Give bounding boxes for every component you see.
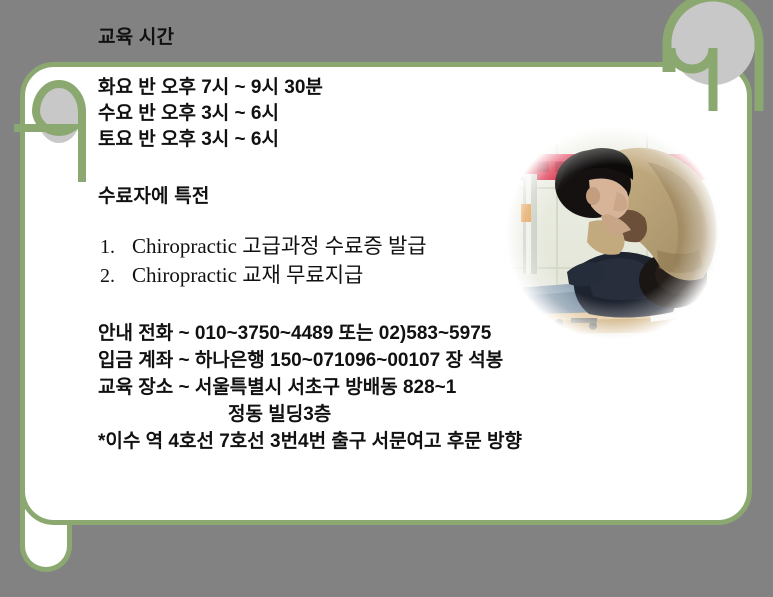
schedule-line: 수요 반 오후 3시 ~ 6시 bbox=[98, 101, 708, 127]
list-item-number: 1. bbox=[100, 233, 132, 261]
schedule-line: 화요 반 오후 7시 ~ 9시 30분 bbox=[98, 75, 708, 101]
contact-transit-directions: *이수 역 4호선 7호선 3번4번 출구 서문여고 후문 방향 bbox=[98, 428, 708, 455]
contact-block: 안내 전화 ~ 010~3750~4489 또는 02)583~5975 입금 … bbox=[98, 320, 708, 455]
list-item: 1. Chiropractic 고급과정 수료증 발급 bbox=[100, 232, 708, 261]
contact-address-detail: 정동 빌딩3층 bbox=[98, 401, 708, 428]
contact-phone: 안내 전화 ~ 010~3750~4489 또는 02)583~5975 bbox=[98, 320, 708, 347]
card-tail-seam-cover bbox=[25, 415, 67, 445]
list-item-label: Chiropractic 고급과정 수료증 발급 bbox=[132, 232, 427, 260]
list-item-label: Chiropractic 교재 무료지급 bbox=[132, 261, 363, 289]
contact-bank-account: 입금 계좌 ~ 하나은행 150~071096~00107 장 석봉 bbox=[98, 347, 708, 374]
contact-address: 교육 장소 ~ 서울특별시 서초구 방배동 828~1 bbox=[98, 374, 708, 401]
benefits-list: 1. Chiropractic 고급과정 수료증 발급 2. Chiroprac… bbox=[100, 232, 708, 290]
slide-text-content: 교육 시간 화요 반 오후 7시 ~ 9시 30분 수요 반 오후 3시 ~ 6… bbox=[98, 22, 708, 455]
slide-canvas: 교육 시간 화요 반 오후 7시 ~ 9시 30분 수요 반 오후 3시 ~ 6… bbox=[0, 0, 773, 597]
page-title: 교육 시간 bbox=[98, 22, 708, 49]
list-item: 2. Chiropractic 교재 무료지급 bbox=[100, 261, 708, 290]
schedule-line: 토요 반 오후 3시 ~ 6시 bbox=[98, 127, 708, 153]
schedule-list: 화요 반 오후 7시 ~ 9시 30분 수요 반 오후 3시 ~ 6시 토요 반… bbox=[98, 75, 708, 153]
list-item-number: 2. bbox=[100, 262, 132, 290]
benefits-title: 수료자에 특전 bbox=[98, 181, 708, 208]
